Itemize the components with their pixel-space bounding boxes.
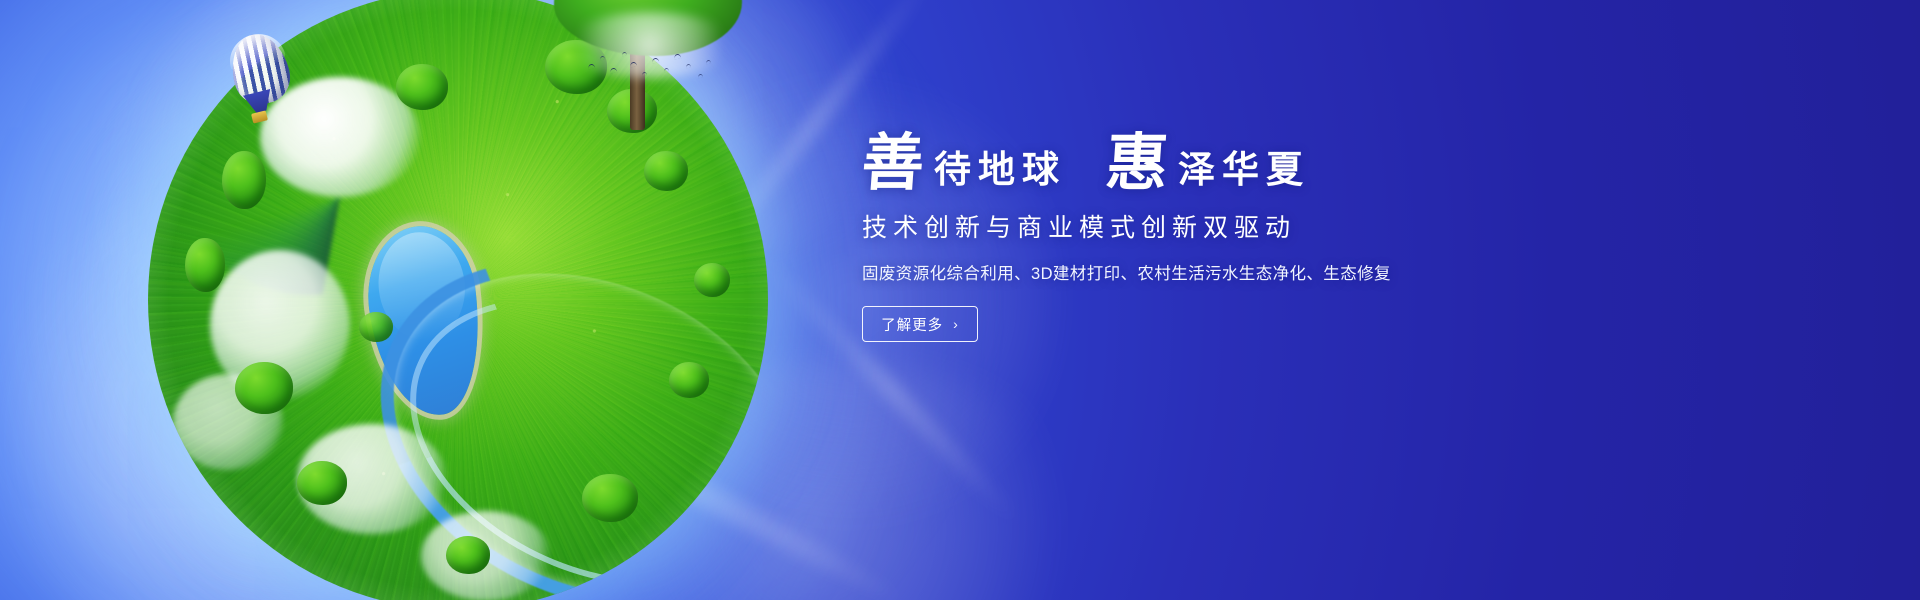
- chevron-right-icon: ›: [953, 317, 959, 331]
- bird-icon: [686, 64, 692, 69]
- headline-part2-small: 泽华夏: [1178, 151, 1310, 194]
- bird-icon: [698, 74, 704, 79]
- tree: [396, 64, 448, 110]
- headline-part1-small: 待地球: [934, 151, 1066, 194]
- learn-more-label: 了解更多: [881, 314, 943, 335]
- tree: [235, 362, 293, 414]
- bird-icon: [588, 64, 596, 70]
- tree: [694, 263, 730, 297]
- headline-part1-large: 善: [860, 132, 936, 194]
- bird-icon: [674, 54, 682, 60]
- tree: [669, 362, 709, 398]
- subtitle: 技术创新与商业模式创新双驱动: [862, 208, 1582, 244]
- bird-icon: [652, 58, 660, 64]
- bird-icon: [706, 60, 712, 65]
- tree: [185, 238, 225, 292]
- headline-part2-large: 惠: [1104, 132, 1180, 194]
- tree: [582, 474, 638, 522]
- bird-icon: [642, 72, 648, 77]
- headline: 善 待地球 惠 泽华夏: [862, 132, 1582, 194]
- bird-icon: [664, 68, 670, 73]
- tree: [222, 151, 266, 209]
- bird-icon: [622, 52, 628, 57]
- tree: [446, 536, 490, 574]
- tree: [359, 312, 393, 342]
- hero-copy: 善 待地球 惠 泽华夏 技术创新与商业模式创新双驱动 固废资源化综合利用、3D建…: [862, 132, 1582, 342]
- bird-icon: [600, 56, 606, 61]
- hot-air-balloon-icon: [232, 34, 288, 128]
- learn-more-button[interactable]: 了解更多 ›: [862, 306, 978, 342]
- bird-icon: [630, 62, 638, 68]
- description: 固废资源化综合利用、3D建材打印、农村生活污水生态净化、生态修复: [862, 260, 1582, 284]
- tree: [297, 461, 347, 505]
- balloon-basket: [251, 110, 268, 123]
- hero-banner: 善 待地球 惠 泽华夏 技术创新与商业模式创新双驱动 固废资源化综合利用、3D建…: [0, 0, 1920, 600]
- tree: [644, 151, 688, 191]
- bird-icon: [610, 68, 618, 74]
- bird-flock: [586, 46, 716, 90]
